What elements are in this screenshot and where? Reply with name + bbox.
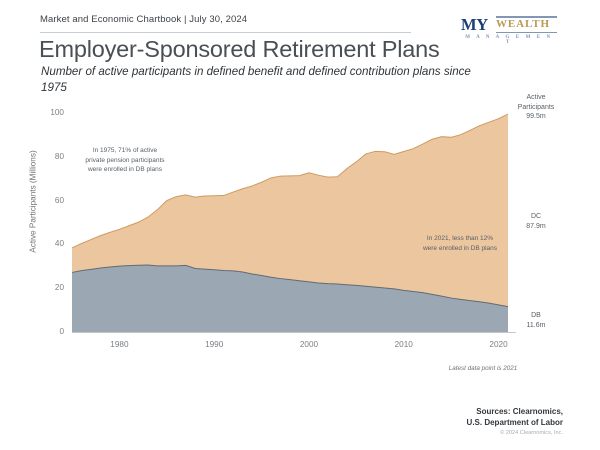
latest-data-note: Latest data point is 2021	[403, 365, 563, 372]
sources-block: Sources: Clearnomics, U.S. Department of…	[403, 406, 563, 428]
y-tick-label: 0	[38, 327, 64, 336]
series-label-db-name: DB	[505, 311, 567, 321]
x-tick-label: 1990	[189, 340, 239, 349]
annotation-1975: In 1975, 71% of active private pension p…	[58, 146, 192, 175]
series-label-active-participants: Active Participants 99.5m	[505, 93, 567, 122]
sources-line-1: Sources: Clearnomics,	[403, 406, 563, 417]
series-label-active-name1: Active	[505, 93, 567, 103]
x-tick-label: 1980	[94, 340, 144, 349]
x-tick-label: 2000	[284, 340, 334, 349]
annotation-2021: In 2021, less than 12% were enrolled in …	[395, 234, 525, 253]
y-tick-label: 60	[38, 196, 64, 205]
x-tick-label: 2010	[379, 340, 429, 349]
series-label-dc-value: 87.9m	[505, 222, 567, 232]
annotation-1975-line3: were enrolled in DB plans	[58, 165, 192, 175]
stacked-area-chart: Active Participants (Millions) 020406080…	[0, 0, 600, 450]
y-tick-label: 20	[38, 283, 64, 292]
series-label-dc: DC 87.9m	[505, 212, 567, 231]
x-tick-label: 2020	[474, 340, 524, 349]
series-label-dc-name: DC	[505, 212, 567, 222]
series-label-db: DB 11.6m	[505, 311, 567, 330]
series-label-active-name2: Participants	[505, 103, 567, 113]
series-label-active-value: 99.5m	[505, 112, 567, 122]
annotation-2021-line2: were enrolled in DB plans	[395, 244, 525, 254]
sources-line-2: U.S. Department of Labor	[403, 417, 563, 428]
y-axis-label: Active Participants (Millions)	[29, 142, 38, 262]
y-tick-label: 40	[38, 239, 64, 248]
copyright: © 2024 Clearnomics, Inc.	[403, 430, 563, 436]
y-tick-label: 100	[38, 108, 64, 117]
annotation-1975-line1: In 1975, 71% of active	[58, 146, 192, 156]
annotation-2021-line1: In 2021, less than 12%	[395, 234, 525, 244]
annotation-1975-line2: private pension participants	[58, 156, 192, 166]
series-label-db-value: 11.6m	[505, 321, 567, 331]
chartbook-page: Market and Economic Chartbook | July 30,…	[0, 0, 600, 450]
